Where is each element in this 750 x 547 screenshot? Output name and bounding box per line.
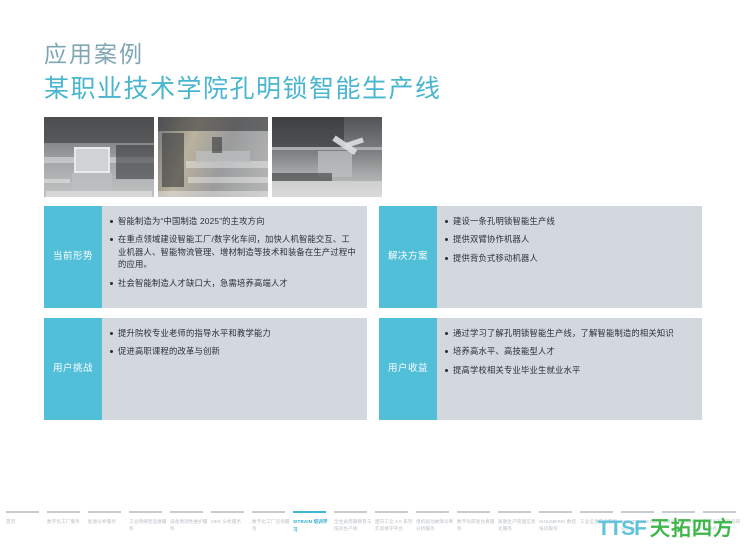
nav-item-5[interactable]: OEE 分析服务 [211, 511, 252, 525]
card-body-solution: 建设一条孔明锁智能生产线 提供双臂协作机器人 提供背负式移动机器人 [437, 206, 702, 308]
nav-item-label: OEE 分析服务 [211, 518, 249, 525]
bullet-dot-icon [110, 220, 113, 223]
nav-tick-icon [170, 511, 203, 513]
card-label-solution: 解决方案 [379, 206, 437, 308]
photo-assembly-station [158, 117, 268, 197]
card-body-user-challenge: 提升院校专业老师的指导水平和教学能力 促进高职课程的改革与创新 [102, 318, 367, 420]
card-label-user-challenge: 用户挑战 [44, 318, 102, 420]
card-row-top: 当前形势 智能制造为“中国制造 2025”的主攻方向 在重点领域建设智能工厂/数… [44, 206, 702, 308]
nav-item-label: 工业网络智运维服务 [129, 518, 167, 533]
list-item: 促进高职课程的改革与创新 [110, 345, 357, 357]
nav-item-11[interactable]: 数字化研发仿真服务 [457, 511, 498, 533]
nav-item-label: 设备预测性维护服务 [170, 518, 208, 533]
nav-item-8[interactable]: 全生命周期教育与培训生产线 [334, 511, 375, 533]
bullet-text: 培养高水平、高技能型人才 [453, 345, 692, 357]
bullet-text: 通过学习了解孔明锁智能生产线，了解智能制造的相关知识 [453, 327, 692, 339]
bullet-dot-icon [445, 350, 448, 353]
list-item: 在重点领域建设智能工厂/数字化车间，加快人机智能交互、工业机器人、智能物流管理、… [110, 233, 357, 270]
bullet-dot-icon [445, 257, 448, 260]
brand-logo: TTSF 天拓四方 [598, 512, 735, 541]
card-solution: 解决方案 建设一条孔明锁智能生产线 提供双臂协作机器人 提供背负式移动机器人 [379, 206, 702, 308]
bullet-text: 社会智能制造人才缺口大，急需培养高端人才 [118, 277, 357, 289]
nav-tick-icon [293, 511, 326, 514]
nav-tick-icon [416, 511, 449, 513]
nav-item-label: SITRAIN 培训学习 [293, 518, 331, 533]
photo-collaborative-robot [272, 117, 382, 197]
nav-tick-icon [129, 511, 162, 513]
bullet-dot-icon [110, 350, 113, 353]
nav-item-9[interactable]: 面向工业 4.0 系列实验教学平台 [375, 511, 416, 533]
photo-production-line-panel [44, 117, 154, 197]
nav-tick-icon [6, 511, 39, 513]
card-current-situation: 当前形势 智能制造为“中国制造 2025”的主攻方向 在重点领域建设智能工厂/数… [44, 206, 367, 308]
nav-tick-icon [457, 511, 490, 513]
bullet-text: 提供双臂协作机器人 [453, 233, 692, 245]
nav-item-label: 首页 [6, 518, 44, 525]
logo-mark-text: TTSF [598, 517, 647, 541]
list-item: 提升院校专业老师的指导水平和教学能力 [110, 327, 357, 339]
nav-tick-icon [539, 511, 572, 513]
card-row-bottom: 用户挑战 提升院校专业老师的指导水平和教学能力 促进高职课程的改革与创新 用户收… [44, 318, 702, 420]
list-item: 提高学校相关专业毕业生就业水平 [445, 364, 692, 376]
card-user-challenge: 用户挑战 提升院校专业老师的指导水平和教学能力 促进高职课程的改革与创新 [44, 318, 367, 420]
card-user-benefit: 用户收益 通过学习了解孔明锁智能生产线，了解智能制造的相关知识 培养高水平、高技… [379, 318, 702, 420]
bullet-text: 建设一条孔明锁智能生产线 [453, 215, 692, 227]
nav-item-label: 能源分析服务 [88, 518, 126, 525]
nav-item-label: 数字化研发仿真服务 [457, 518, 495, 533]
bullet-dot-icon [445, 220, 448, 223]
bullet-dot-icon [445, 332, 448, 335]
list-item: 智能制造为“中国制造 2025”的主攻方向 [110, 215, 357, 227]
nav-item-label: 数字化工厂服务 [47, 518, 85, 525]
nav-item-4[interactable]: 设备预测性维护服务 [170, 511, 211, 533]
nav-item-10[interactable]: 电机驱动故障诊断分析服务 [416, 511, 457, 533]
list-item: 培养高水平、高技能型人才 [445, 345, 692, 357]
nav-item-label: 全生命周期教育与培训生产线 [334, 518, 372, 533]
nav-item-6[interactable]: 数字化工厂咨询服务 [252, 511, 293, 533]
photo-strip [44, 117, 382, 197]
card-label-user-benefit: 用户收益 [379, 318, 437, 420]
list-item: 提供双臂协作机器人 [445, 233, 692, 245]
nav-item-2[interactable]: 能源分析服务 [88, 511, 129, 525]
slide-root: 应用案例 某职业技术学院孔明锁智能生产线 [0, 0, 750, 547]
card-label-current-situation: 当前形势 [44, 206, 102, 308]
bullet-text: 促进高职课程的改革与创新 [118, 345, 357, 357]
bullet-dot-icon [445, 369, 448, 372]
nav-item-13[interactable]: SINUMERIK 数控培训服务 [539, 511, 580, 533]
info-card-grid: 当前形势 智能制造为“中国制造 2025”的主攻方向 在重点领域建设智能工厂/数… [44, 206, 702, 420]
bullet-dot-icon [110, 238, 113, 241]
bullet-text: 智能制造为“中国制造 2025”的主攻方向 [118, 215, 357, 227]
nav-item-label: 电机驱动故障诊断分析服务 [416, 518, 454, 533]
bullet-dot-icon [110, 282, 113, 285]
logo-company-name: 天拓四方 [650, 512, 734, 541]
nav-item-0[interactable]: 首页 [6, 511, 47, 525]
nav-tick-icon [334, 511, 367, 513]
bullet-dot-icon [445, 238, 448, 241]
nav-item-label: 离散生产管理信息化服务 [498, 518, 536, 533]
list-item: 通过学习了解孔明锁智能生产线，了解智能制造的相关知识 [445, 327, 692, 339]
nav-tick-icon [211, 511, 244, 513]
nav-tick-icon [88, 511, 121, 513]
nav-item-3[interactable]: 工业网络智运维服务 [129, 511, 170, 533]
bullet-dot-icon [110, 332, 113, 335]
nav-item-1[interactable]: 数字化工厂服务 [47, 511, 88, 525]
list-item: 建设一条孔明锁智能生产线 [445, 215, 692, 227]
nav-item-12[interactable]: 离散生产管理信息化服务 [498, 511, 539, 533]
card-body-user-benefit: 通过学习了解孔明锁智能生产线，了解智能制造的相关知识 培养高水平、高技能型人才 … [437, 318, 702, 420]
page-title: 应用案例 [44, 40, 442, 69]
list-item: 提供背负式移动机器人 [445, 252, 692, 264]
bullet-text: 提供背负式移动机器人 [453, 252, 692, 264]
nav-tick-icon [252, 511, 285, 513]
nav-tick-icon [47, 511, 80, 513]
nav-item-label: 面向工业 4.0 系列实验教学平台 [375, 518, 413, 533]
nav-tick-icon [375, 511, 408, 513]
title-block: 应用案例 某职业技术学院孔明锁智能生产线 [44, 40, 442, 105]
bullet-text: 提升院校专业老师的指导水平和教学能力 [118, 327, 357, 339]
nav-tick-icon [498, 511, 531, 513]
nav-item-label: 数字化工厂咨询服务 [252, 518, 290, 533]
nav-item-7[interactable]: SITRAIN 培训学习 [293, 511, 334, 533]
list-item: 社会智能制造人才缺口大，急需培养高端人才 [110, 277, 357, 289]
bullet-text: 在重点领域建设智能工厂/数字化车间，加快人机智能交互、工业机器人、智能物流管理、… [118, 233, 357, 270]
card-body-current-situation: 智能制造为“中国制造 2025”的主攻方向 在重点领域建设智能工厂/数字化车间，… [102, 206, 367, 308]
page-subtitle: 某职业技术学院孔明锁智能生产线 [44, 73, 442, 106]
nav-item-label: SINUMERIK 数控培训服务 [539, 518, 577, 533]
bullet-text: 提高学校相关专业毕业生就业水平 [453, 364, 692, 376]
